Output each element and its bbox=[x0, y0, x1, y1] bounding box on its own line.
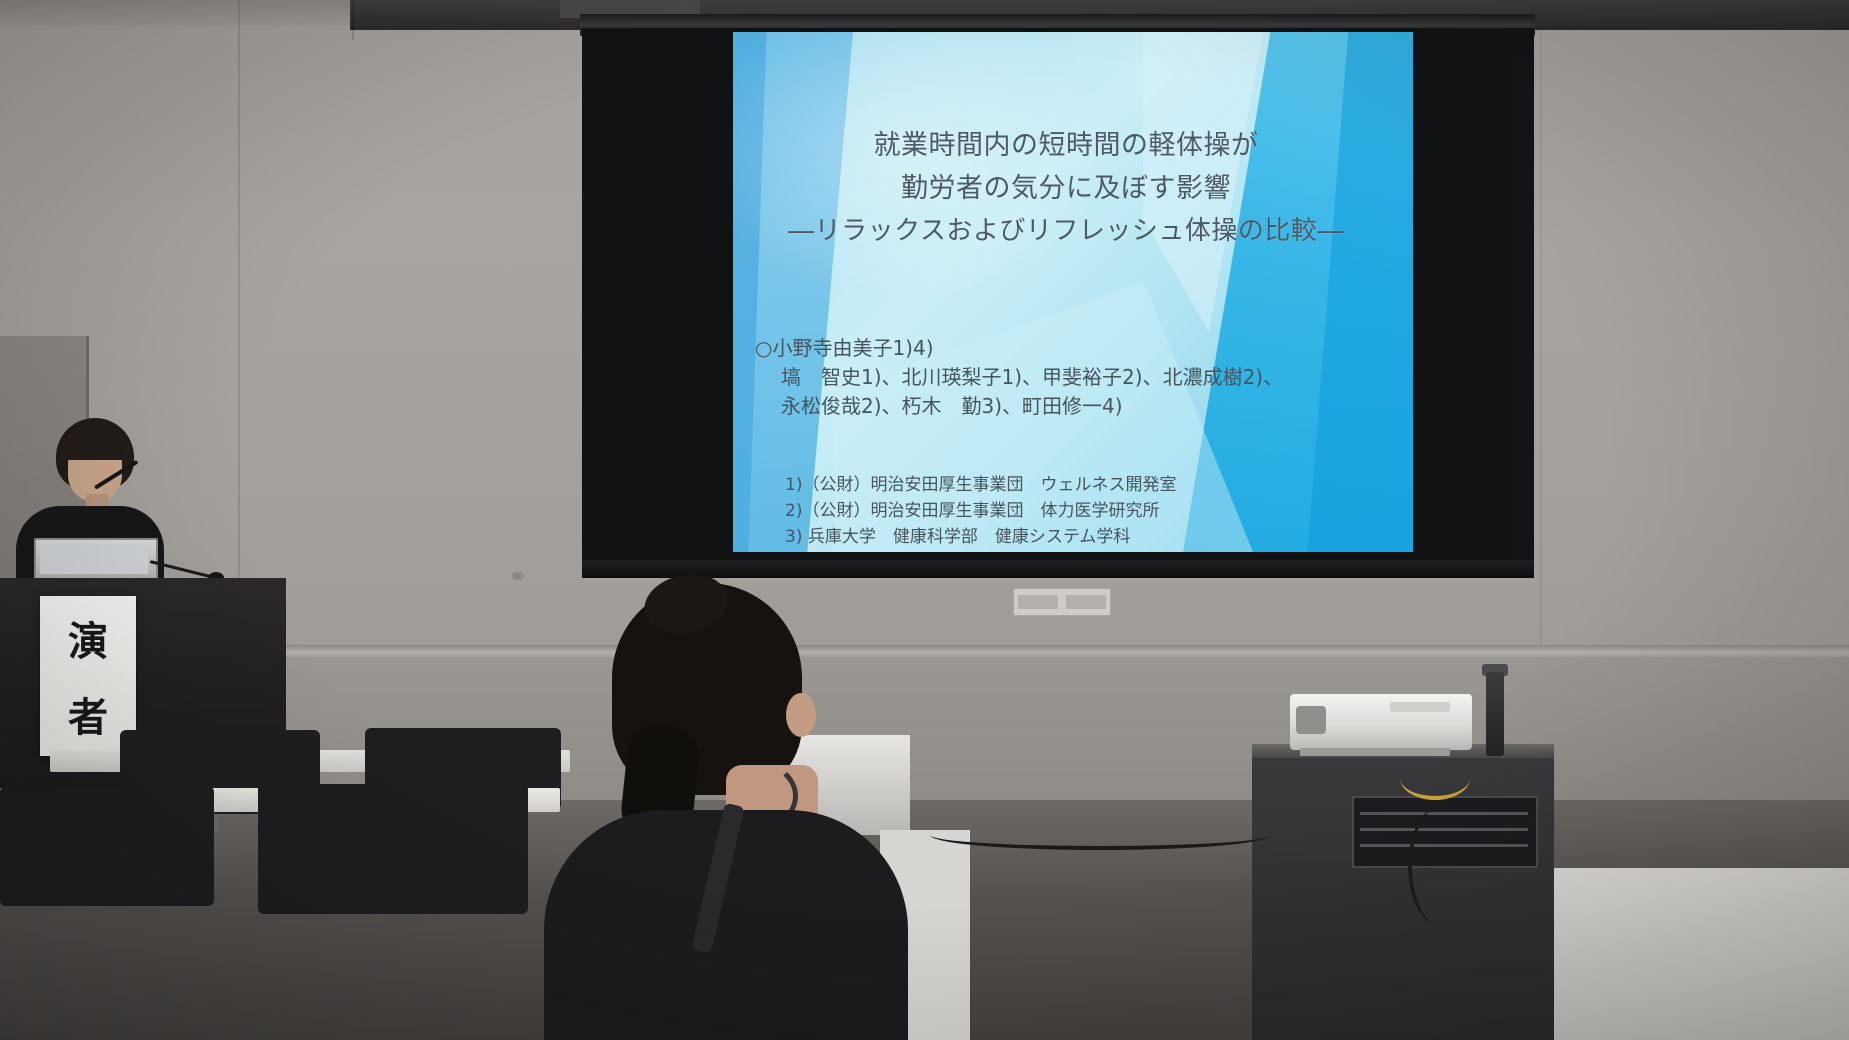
projector-lens bbox=[1296, 706, 1326, 734]
power-cable bbox=[1400, 756, 1470, 800]
wall-outlet bbox=[1013, 588, 1111, 616]
author-line-1: ○小野寺由美子1)4) bbox=[755, 334, 1283, 363]
podium-sign-char-2: 者 bbox=[68, 685, 108, 743]
slide-title: 就業時間内の短時間の軽体操が 勤労者の気分に及ぼす影響 ―リラックスおよびリフレ… bbox=[733, 124, 1399, 253]
screen-edge-right bbox=[1508, 28, 1534, 568]
author-line-3: 永松俊哉2)、朽木 勤3)、町田修一4) bbox=[755, 392, 1283, 421]
wall-seam bbox=[238, 0, 240, 660]
podium-sign-char-1: 演 bbox=[68, 609, 108, 667]
equipment-cart bbox=[1252, 744, 1554, 1040]
slide-title-line-3: ―リラックスおよびリフレッシュ体操の比較― bbox=[733, 210, 1399, 253]
slide-affiliation-block: 1)（公財）明治安田厚生事業団 ウェルネス開発室 2)（公財）明治安田厚生事業団… bbox=[785, 472, 1176, 552]
presenter-bangs bbox=[60, 430, 130, 460]
wall-seam bbox=[1540, 30, 1542, 650]
slide-title-line-1: 就業時間内の短時間の軽体操が bbox=[733, 124, 1399, 167]
equipment-pole bbox=[1486, 672, 1504, 756]
slide-title-line-2: 勤労者の気分に及ぼす影響 bbox=[733, 167, 1399, 210]
projector-vent bbox=[1390, 702, 1450, 712]
affiliation-line-1: 1)（公財）明治安田厚生事業団 ウェルネス開発室 bbox=[785, 472, 1176, 498]
slide-content: 就業時間内の短時間の軽体操が 勤労者の気分に及ぼす影響 ―リラックスおよびリフレ… bbox=[733, 32, 1413, 552]
screen-edge-left bbox=[582, 28, 592, 568]
author-line-2: 塙 智史1)、北川瑛梨子1)、甲斐裕子2)、北濃成樹2)、 bbox=[755, 363, 1283, 392]
affiliation-line-4: 4) 順天堂大学大学院 スポーツ健康科学研究科 bbox=[785, 550, 1176, 552]
wall-seam bbox=[352, 0, 354, 40]
audience-chair bbox=[258, 784, 528, 914]
projected-slide: 就業時間内の短時間の軽体操が 勤労者の気分に及ぼす影響 ―リラックスおよびリフレ… bbox=[733, 32, 1413, 552]
audience-person bbox=[540, 575, 910, 1040]
wall-mark bbox=[512, 572, 524, 580]
audience-ear bbox=[786, 693, 816, 737]
conference-room-photo: 就業時間内の短時間の軽体操が 勤労者の気分に及ぼす影響 ―リラックスおよびリフレ… bbox=[0, 0, 1849, 1040]
slide-author-block: ○小野寺由美子1)4) 塙 智史1)、北川瑛梨子1)、甲斐裕子2)、北濃成樹2)… bbox=[755, 334, 1283, 421]
projector-base bbox=[1300, 748, 1450, 756]
affiliation-line-3: 3) 兵庫大学 健康科学部 健康システム学科 bbox=[785, 524, 1176, 550]
power-cable bbox=[1408, 806, 1474, 926]
affiliation-line-2: 2)（公財）明治安田厚生事業団 体力医学研究所 bbox=[785, 498, 1176, 524]
laptop-screen bbox=[40, 544, 148, 574]
floor-cable bbox=[930, 820, 1270, 850]
microphone-arm bbox=[150, 560, 213, 578]
audience-chair bbox=[0, 786, 214, 906]
